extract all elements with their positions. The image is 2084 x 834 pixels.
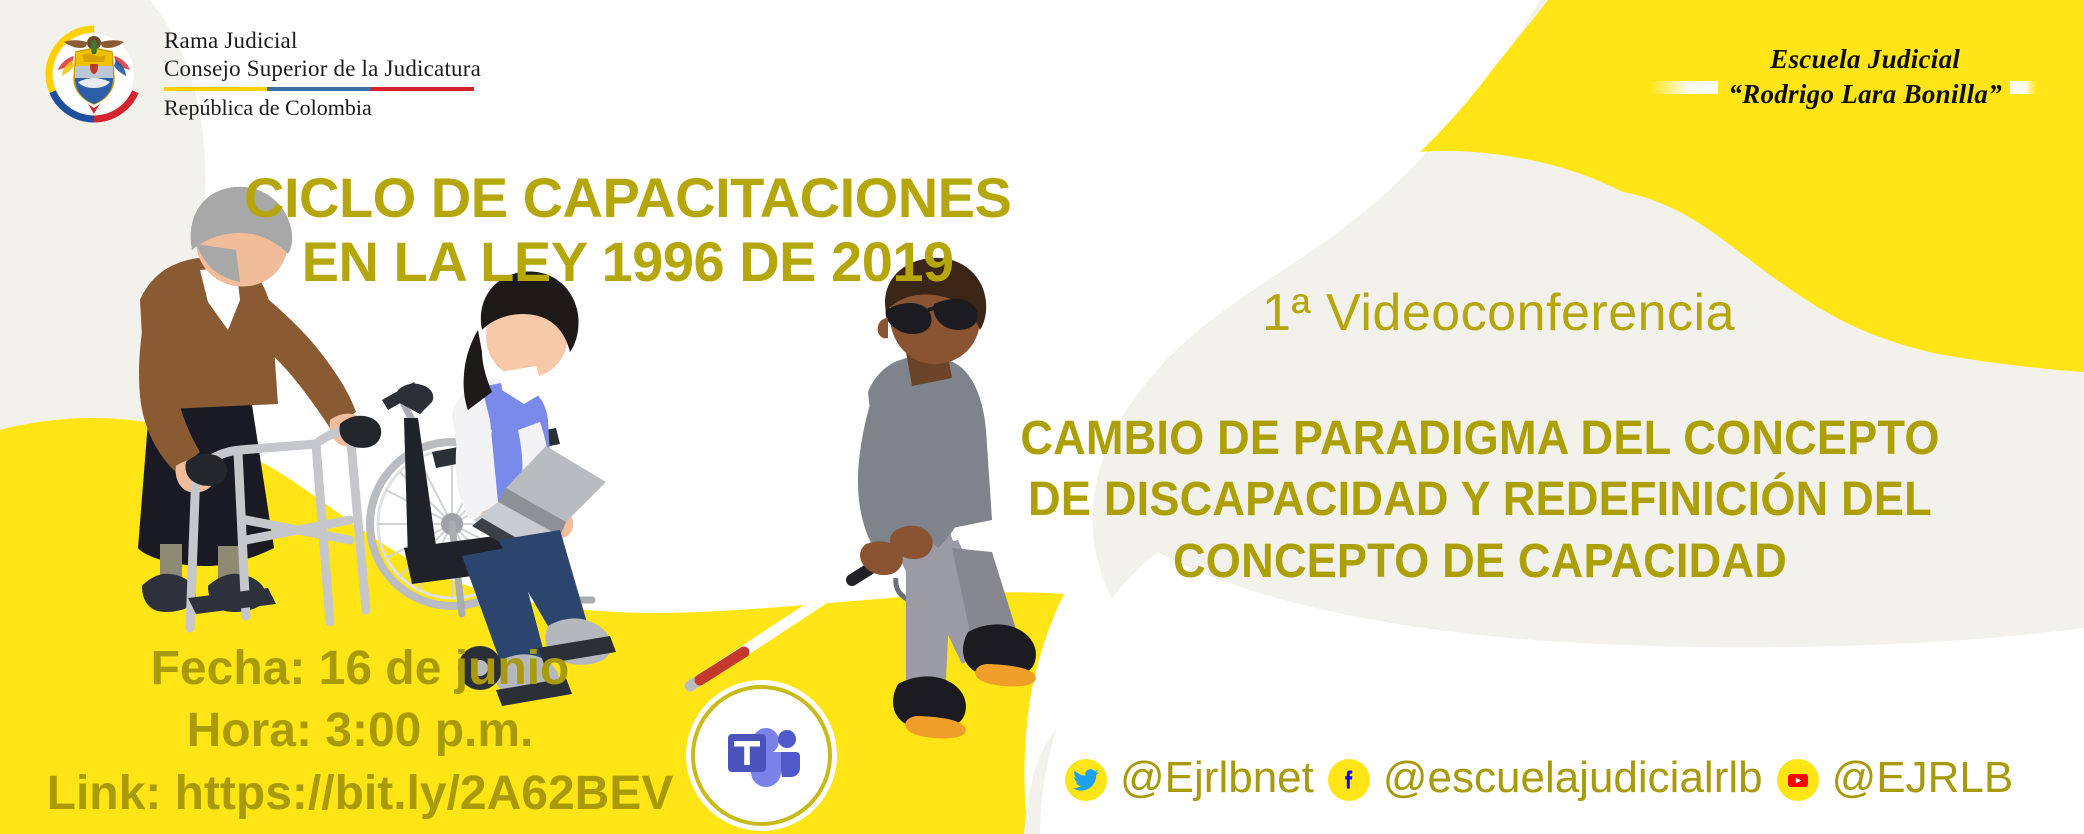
logo-line-republica: República de Colombia [164, 95, 481, 121]
event-time: Hora: 3:00 p.m. [10, 700, 710, 762]
youtube-icon[interactable] [1777, 759, 1819, 801]
decorative-bar-left [1650, 81, 1718, 94]
event-date: Fecha: 16 de junio [10, 638, 710, 700]
poster-canvas: Rama Judicial Consejo Superior de la Jud… [0, 0, 2084, 834]
event-link[interactable]: Link: https://bit.ly/2A62BEV [10, 763, 710, 825]
logo-line-rama-judicial: Rama Judicial [164, 27, 481, 54]
title-line-1: CICLO DE CAPACITACIONES [244, 166, 1011, 230]
event-details: Fecha: 16 de junio Hora: 3:00 p.m. Link:… [10, 638, 710, 825]
logo-text-block: Rama Judicial Consejo Superior de la Jud… [164, 27, 481, 120]
subject-line-1: CAMBIO DE PARADIGMA DEL CONCEPTO [935, 408, 2025, 469]
rama-judicial-logo: Rama Judicial Consejo Superior de la Jud… [42, 22, 481, 126]
session-subject-heading: CAMBIO DE PARADIGMA DEL CONCEPTO DE DISC… [935, 408, 2025, 592]
videoconference-label: 1ª Videoconferencia [1262, 283, 1735, 343]
escuela-label: Escuela Judicial “Rodrigo Lara Bonilla” [1728, 42, 2002, 111]
twitter-handle[interactable]: @Ejrlbnet [1120, 756, 1314, 804]
microsoft-teams-icon[interactable] [691, 685, 832, 826]
subject-line-2: DE DISCAPACIDAD Y REDEFINICIÓN DEL [935, 469, 2025, 530]
colombia-coat-of-arms-icon [42, 22, 146, 126]
facebook-handle[interactable]: @escuelajudicialrlb [1383, 756, 1763, 804]
escuela-line-2: “Rodrigo Lara Bonilla” [1728, 77, 2002, 112]
title-line-2: EN LA LEY 1996 DE 2019 [244, 230, 1011, 294]
escuela-judicial-wordmark: Escuela Judicial “Rodrigo Lara Bonilla” [1650, 42, 2036, 111]
logo-line-consejo: Consejo Superior de la Judicatura [164, 55, 481, 82]
social-media-row: @Ejrlbnet @escuelajudicialrlb @EJRLB [1065, 756, 2027, 804]
facebook-icon[interactable] [1328, 759, 1370, 801]
escuela-line-1: Escuela Judicial [1728, 42, 2002, 77]
decorative-bar-right [2010, 81, 2036, 94]
subject-line-3: CONCEPTO DE CAPACIDAD [935, 531, 2025, 592]
youtube-handle[interactable]: @EJRLB [1832, 756, 2014, 804]
page-title: CICLO DE CAPACITACIONES EN LA LEY 1996 D… [244, 166, 1011, 294]
twitter-icon[interactable] [1065, 759, 1107, 801]
tricolor-divider [164, 87, 474, 91]
